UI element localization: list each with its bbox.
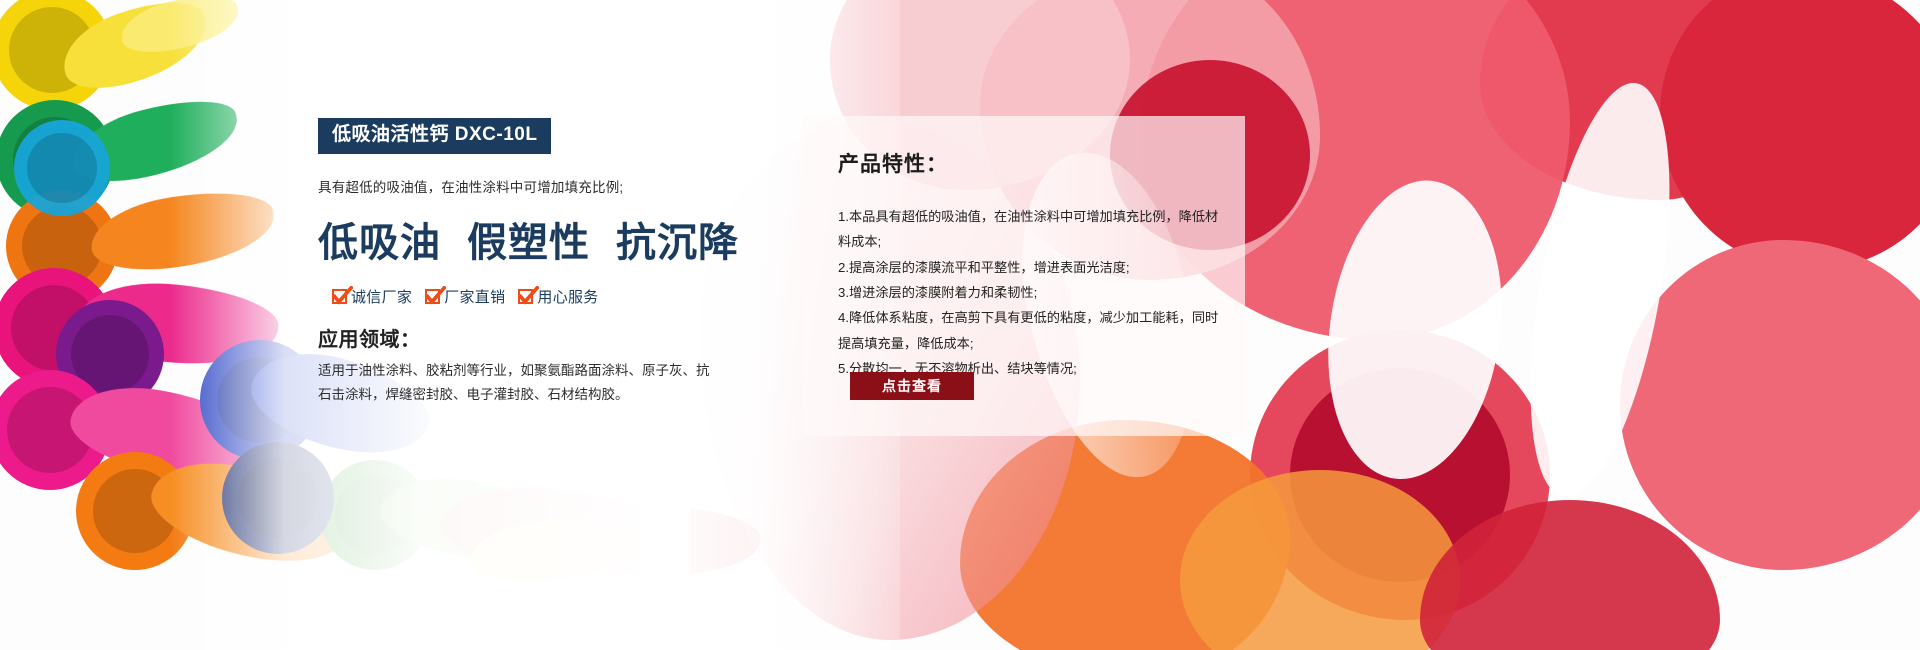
headline-word-3: 抗沉降	[616, 219, 739, 266]
feature-item-1: 诚信厂家	[332, 286, 412, 307]
panel-title: 产品特性：	[838, 148, 1219, 178]
checkbox-checked-icon	[332, 289, 347, 304]
headline-word-1: 低吸油	[318, 219, 441, 266]
product-name-badge: 低吸油活性钙 DXC-10L	[318, 118, 551, 154]
feature-label-2: 厂家直销	[444, 286, 505, 307]
spill-red-top-right-2	[1660, 0, 1920, 270]
feature-list-item: 1.本品具有超低的吸油值，在油性涂料中可增加填充比例，降低材料成本;	[838, 204, 1219, 255]
feature-label-3: 用心服务	[537, 286, 598, 307]
headline-keywords: 低吸油假塑性抗沉降	[318, 210, 748, 268]
application-description: 适用于油性涂料、胶粘剂等行业，如聚氨酯路面涂料、原子灰、抗石击涂料，焊缝密封胶、…	[318, 359, 718, 407]
feature-list: 1.本品具有超低的吸油值，在油性涂料中可增加填充比例，降低材料成本; 2.提高涂…	[838, 204, 1219, 381]
promo-banner: 低吸油活性钙 DXC-10L 具有超低的吸油值，在油性涂料中可增加填充比例; 低…	[0, 0, 1920, 650]
application-section-title: 应用领域：	[318, 323, 748, 352]
product-subtitle: 具有超低的吸油值，在油性涂料中可增加填充比例;	[318, 176, 748, 196]
feature-item-3: 用心服务	[518, 286, 598, 307]
feature-list-item: 3.增进涂层的漆膜附着力和柔韧性;	[838, 280, 1219, 305]
product-features-panel: 产品特性： 1.本品具有超低的吸油值，在油性涂料中可增加填充比例，降低材料成本;…	[803, 116, 1245, 436]
checkbox-checked-icon	[518, 289, 533, 304]
checkbox-checked-icon	[425, 289, 440, 304]
headline-word-2: 假塑性	[467, 219, 590, 266]
left-content-block: 低吸油活性钙 DXC-10L 具有超低的吸油值，在油性涂料中可增加填充比例; 低…	[318, 118, 748, 407]
feature-list-item: 4.降低体系粘度，在高剪下具有更低的粘度，减少加工能耗，同时提高填充量，降低成本…	[838, 305, 1219, 356]
feature-item-2: 厂家直销	[425, 286, 505, 307]
feature-list-item: 2.提高涂层的漆膜流平和平整性，增进表面光洁度;	[838, 255, 1219, 280]
panel-inner: 产品特性： 1.本品具有超低的吸油值，在油性涂料中可增加填充比例，降低材料成本;…	[803, 116, 1245, 381]
paint-can-cyan	[14, 120, 110, 216]
feature-label-1: 诚信厂家	[351, 286, 412, 307]
view-details-button[interactable]: 点击查看	[850, 372, 974, 400]
spill-red-far-right	[1620, 240, 1920, 570]
trust-feature-row: 诚信厂家 厂家直销 用心服务	[318, 286, 748, 307]
